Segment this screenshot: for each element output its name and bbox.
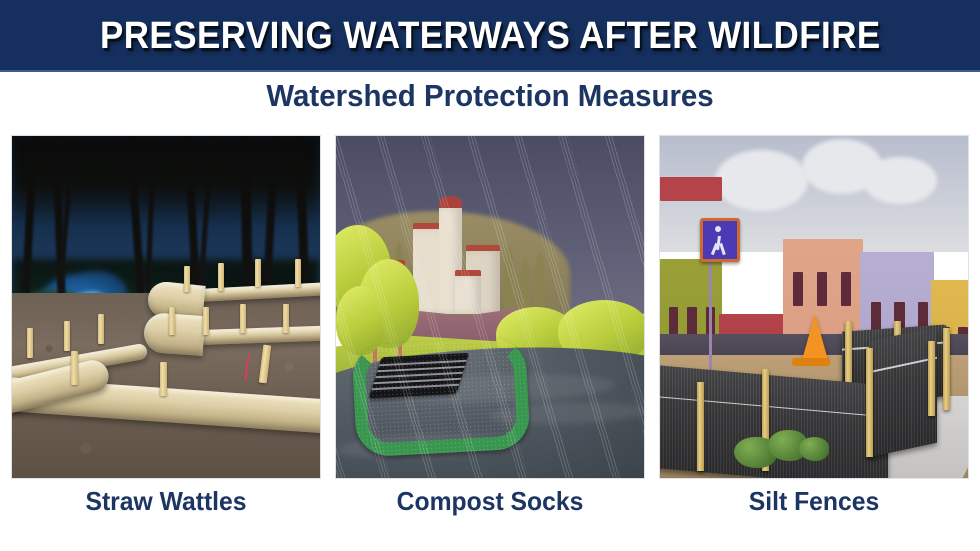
infographic-poster: PRESERVING WATERWAYS AFTER WILDFIRE Wate… bbox=[0, 0, 980, 551]
pedestrian-leg bbox=[719, 243, 726, 255]
wattle-stake bbox=[255, 259, 261, 287]
building-cornice-red bbox=[660, 177, 722, 201]
caption-silt-fences: Silt Fences bbox=[668, 486, 961, 532]
cypress-tree bbox=[535, 252, 545, 314]
wattle-stake bbox=[203, 307, 209, 335]
tower-roof bbox=[439, 196, 462, 208]
wattle-stake bbox=[295, 259, 301, 287]
traffic-cone-icon bbox=[802, 314, 828, 360]
building-roof bbox=[455, 270, 482, 276]
compost-sock-mesh-texture bbox=[352, 337, 531, 457]
wattle-stake bbox=[218, 263, 224, 291]
wattle-stake bbox=[240, 304, 246, 333]
fence-post bbox=[943, 328, 950, 410]
fence-post bbox=[866, 348, 873, 457]
shrub bbox=[799, 437, 830, 461]
caption-compost-socks: Compost Socks bbox=[344, 486, 637, 532]
panel-row: Cal OES GOVERNOR'S OFFICE OF EMERGENCY S… bbox=[12, 136, 968, 478]
header-band: PRESERVING WATERWAYS AFTER WILDFIRE bbox=[0, 0, 980, 72]
cloud bbox=[863, 157, 937, 205]
wattle-stake bbox=[71, 351, 78, 385]
building-window bbox=[687, 307, 697, 338]
illustration-compost-socks bbox=[336, 136, 644, 478]
fence-tension-wire bbox=[660, 396, 888, 419]
panel-compost-socks bbox=[336, 136, 644, 478]
caption-straw-wattles: Straw Wattles bbox=[20, 486, 313, 532]
wattle-stake bbox=[184, 266, 190, 292]
wattle-stake bbox=[64, 321, 70, 351]
traffic-cone-base bbox=[792, 358, 830, 366]
fence-post bbox=[697, 382, 704, 471]
header-bottom-rule bbox=[0, 70, 980, 72]
cloud bbox=[715, 150, 807, 212]
page-title: PRESERVING WATERWAYS AFTER WILDFIRE bbox=[100, 17, 881, 55]
wattle-stake bbox=[169, 307, 175, 335]
sign-post bbox=[709, 259, 712, 375]
town-building bbox=[455, 275, 482, 314]
pedestrian-head bbox=[715, 226, 721, 232]
illustration-silt-fences bbox=[660, 136, 968, 478]
building-window bbox=[817, 272, 827, 306]
building-window bbox=[841, 272, 851, 306]
panel-straw-wattles: Cal OES GOVERNOR'S OFFICE OF EMERGENCY S… bbox=[12, 136, 320, 478]
panel-silt-fences bbox=[660, 136, 968, 478]
caption-row: Straw Wattles Compost Socks Silt Fences bbox=[12, 486, 968, 532]
illustration-straw-wattles bbox=[12, 136, 320, 478]
wattle-stake bbox=[283, 304, 289, 333]
wattle-stake bbox=[98, 314, 104, 344]
building-roof bbox=[466, 245, 500, 251]
fence-post bbox=[928, 341, 935, 416]
pedestrian-crossing-sign-icon bbox=[700, 218, 740, 262]
compost-sock bbox=[352, 337, 531, 457]
wattle-stake bbox=[160, 362, 167, 396]
building-window bbox=[669, 307, 679, 338]
wattle-stake bbox=[27, 328, 33, 358]
subtitle: Watershed Protection Measures bbox=[25, 78, 956, 114]
cypress-tree bbox=[504, 246, 514, 314]
building-window bbox=[793, 272, 803, 306]
cypress-tree bbox=[520, 260, 530, 313]
